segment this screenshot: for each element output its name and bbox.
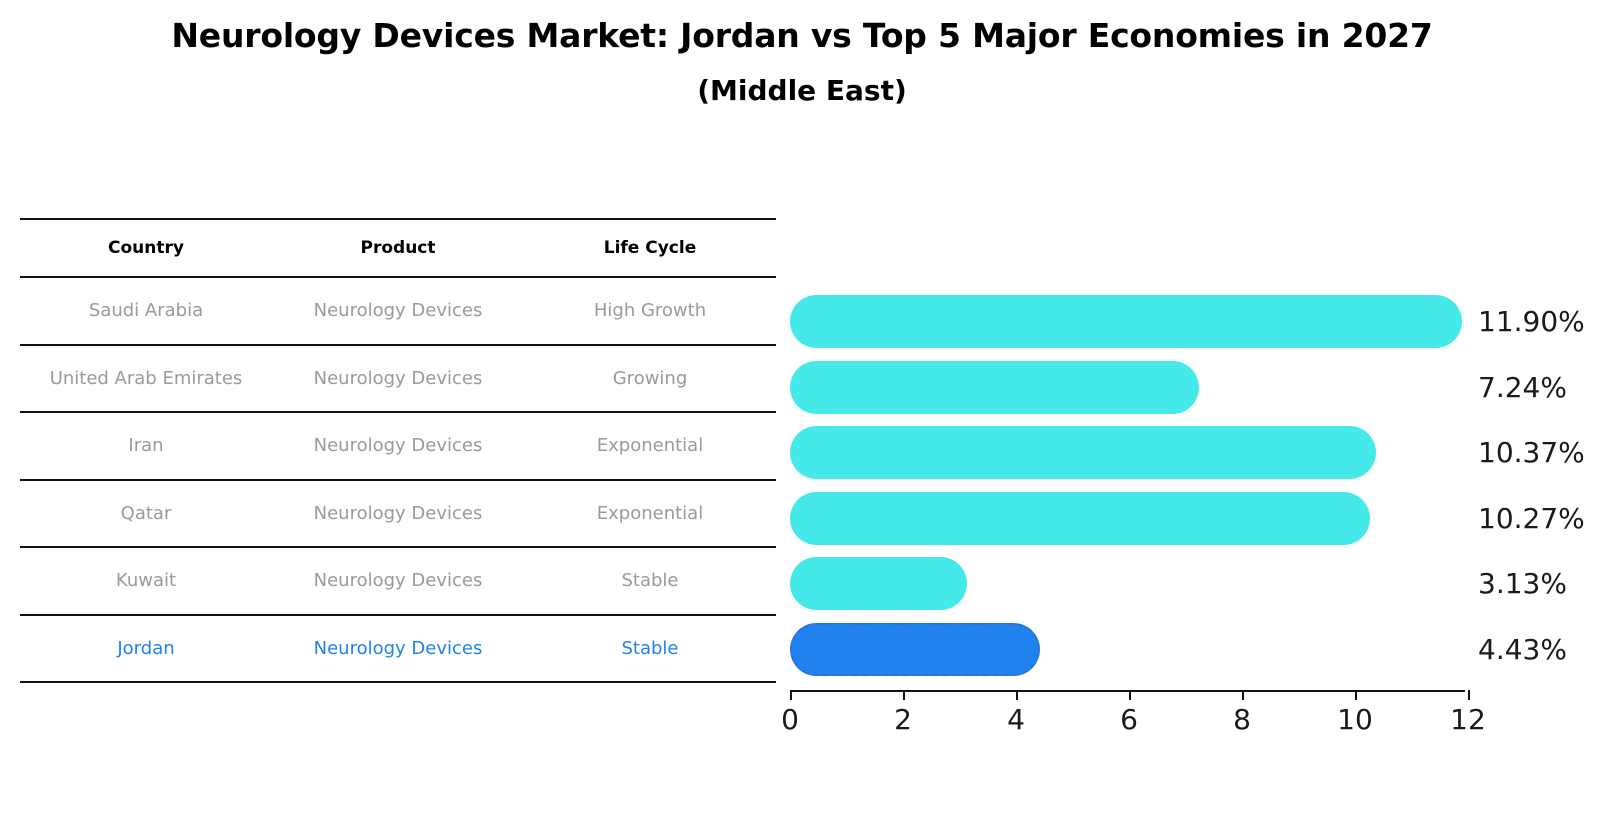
bar-value-label: 7.24% (1478, 361, 1567, 414)
table-row: QatarNeurology DevicesExponential (20, 480, 776, 548)
cell-product: Neurology Devices (272, 547, 524, 615)
bar-qatar (790, 492, 1370, 545)
page-title: Neurology Devices Market: Jordan vs Top … (0, 12, 1604, 60)
bar-row (790, 492, 1550, 545)
cell-product: Neurology Devices (272, 412, 524, 480)
x-axis-tick (1129, 690, 1131, 700)
x-axis-tick-label: 0 (750, 700, 830, 740)
bar-united-arab-emirates (790, 361, 1199, 414)
cell-product: Neurology Devices (272, 277, 524, 345)
bar-row (790, 557, 1550, 610)
x-axis-tick (1016, 690, 1018, 700)
title-block: Neurology Devices Market: Jordan vs Top … (0, 12, 1604, 114)
matrix-table-panel: Country Product Life Cycle Saudi ArabiaN… (20, 218, 776, 683)
cell-country: United Arab Emirates (20, 345, 272, 413)
bar-row (790, 426, 1550, 479)
x-axis-tick-label: 4 (976, 700, 1056, 740)
cell-life-cycle: Growing (524, 345, 776, 413)
cell-country: Kuwait (20, 547, 272, 615)
bar-value-label: 4.43% (1478, 623, 1567, 676)
x-axis-tick-label: 12 (1428, 700, 1508, 740)
x-axis-tick (790, 690, 792, 700)
bar-iran (790, 426, 1376, 479)
x-axis-tick-label: 8 (1202, 700, 1282, 740)
table-body: Saudi ArabiaNeurology DevicesHigh Growth… (20, 277, 776, 682)
table-header-row: Country Product Life Cycle (20, 219, 776, 277)
cell-country: Saudi Arabia (20, 277, 272, 345)
bar-value-label: 3.13% (1478, 557, 1567, 610)
cell-country: Iran (20, 412, 272, 480)
x-axis-tick-label: 6 (1089, 700, 1169, 740)
bar-row (790, 623, 1550, 676)
cell-life-cycle: Stable (524, 547, 776, 615)
table-row: Saudi ArabiaNeurology DevicesHigh Growth (20, 277, 776, 345)
x-axis-tick (1242, 690, 1244, 700)
country-matrix-table: Country Product Life Cycle Saudi ArabiaN… (20, 218, 776, 683)
table-row: United Arab EmiratesNeurology DevicesGro… (20, 345, 776, 413)
cell-life-cycle: Exponential (524, 412, 776, 480)
table-row: JordanNeurology DevicesStable (20, 615, 776, 683)
cell-life-cycle: High Growth (524, 277, 776, 345)
bar-saudi-arabia (790, 295, 1462, 348)
column-header-country: Country (20, 219, 272, 277)
cell-life-cycle: Stable (524, 615, 776, 683)
table-row: KuwaitNeurology DevicesStable (20, 547, 776, 615)
bar-value-label: 10.37% (1478, 426, 1585, 479)
x-axis-line (790, 690, 1465, 692)
bar-row (790, 295, 1550, 348)
cell-life-cycle: Exponential (524, 480, 776, 548)
bar-jordan (790, 623, 1040, 676)
x-axis-tick (903, 690, 905, 700)
column-header-life-cycle: Life Cycle (524, 219, 776, 277)
page-subtitle: (Middle East) (0, 68, 1604, 114)
cell-country: Qatar (20, 480, 272, 548)
cell-product: Neurology Devices (272, 345, 524, 413)
bar-row (790, 361, 1550, 414)
x-axis-tick-label: 10 (1315, 700, 1395, 740)
bar-value-label: 10.27% (1478, 492, 1585, 545)
x-axis-tick (1468, 690, 1470, 700)
column-header-product: Product (272, 219, 524, 277)
bar-value-label: 11.90% (1478, 295, 1585, 348)
x-axis-tick (1355, 690, 1357, 700)
cell-product: Neurology Devices (272, 615, 524, 683)
cell-product: Neurology Devices (272, 480, 524, 548)
table-row: IranNeurology DevicesExponential (20, 412, 776, 480)
x-axis-tick-label: 2 (863, 700, 943, 740)
cell-country: Jordan (20, 615, 272, 683)
bar-kuwait (790, 557, 967, 610)
table-header: Country Product Life Cycle (20, 219, 776, 277)
